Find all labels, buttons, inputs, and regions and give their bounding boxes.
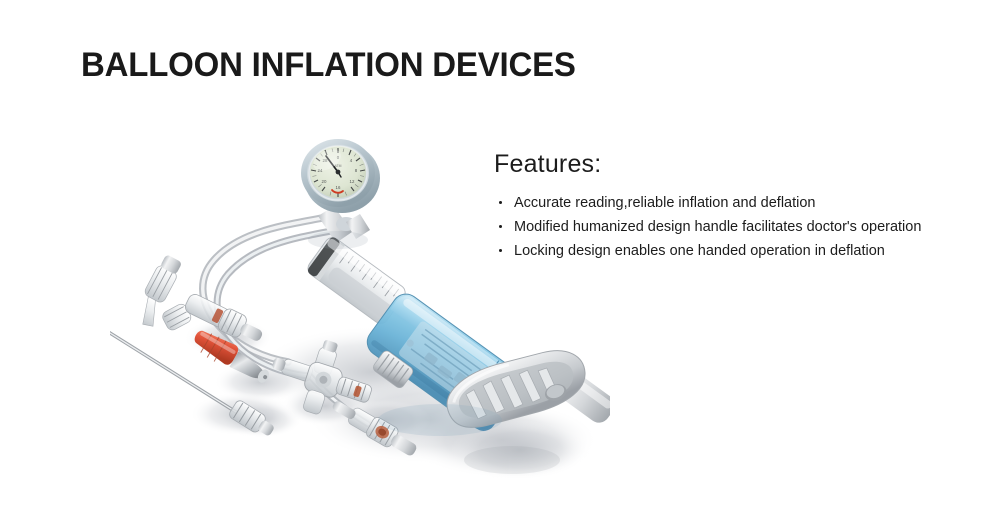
page-title: BALLOON INFLATION DEVICES: [81, 46, 576, 85]
svg-text:20: 20: [322, 179, 327, 184]
product-photo: 0 4 8 12 16 20 24 28 ATM: [110, 120, 610, 500]
svg-text:16: 16: [336, 185, 341, 190]
svg-text:12: 12: [350, 179, 355, 184]
slide-root: BALLOON INFLATION DEVICES Features: Accu…: [0, 0, 1000, 519]
